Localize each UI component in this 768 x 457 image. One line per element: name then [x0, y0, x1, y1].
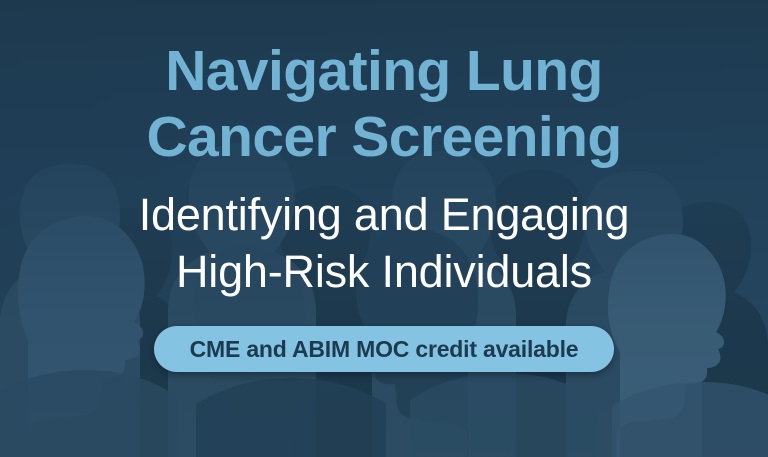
- lung-cancer-screening-banner: Navigating Lung Cancer Screening Identif…: [0, 0, 768, 457]
- banner-content: Navigating Lung Cancer Screening Identif…: [0, 0, 768, 457]
- subtitle-line-1: Identifying and Engaging: [139, 186, 630, 243]
- subtitle-line-2: High-Risk Individuals: [139, 243, 630, 300]
- cme-credit-badge[interactable]: CME and ABIM MOC credit available: [154, 326, 615, 372]
- badge-container: CME and ABIM MOC credit available: [154, 326, 615, 372]
- page-subtitle: Identifying and Engaging High-Risk Indiv…: [139, 186, 630, 300]
- title-line-1: Navigating Lung: [146, 38, 621, 104]
- title-line-2: Cancer Screening: [146, 104, 621, 170]
- page-title: Navigating Lung Cancer Screening: [146, 38, 621, 170]
